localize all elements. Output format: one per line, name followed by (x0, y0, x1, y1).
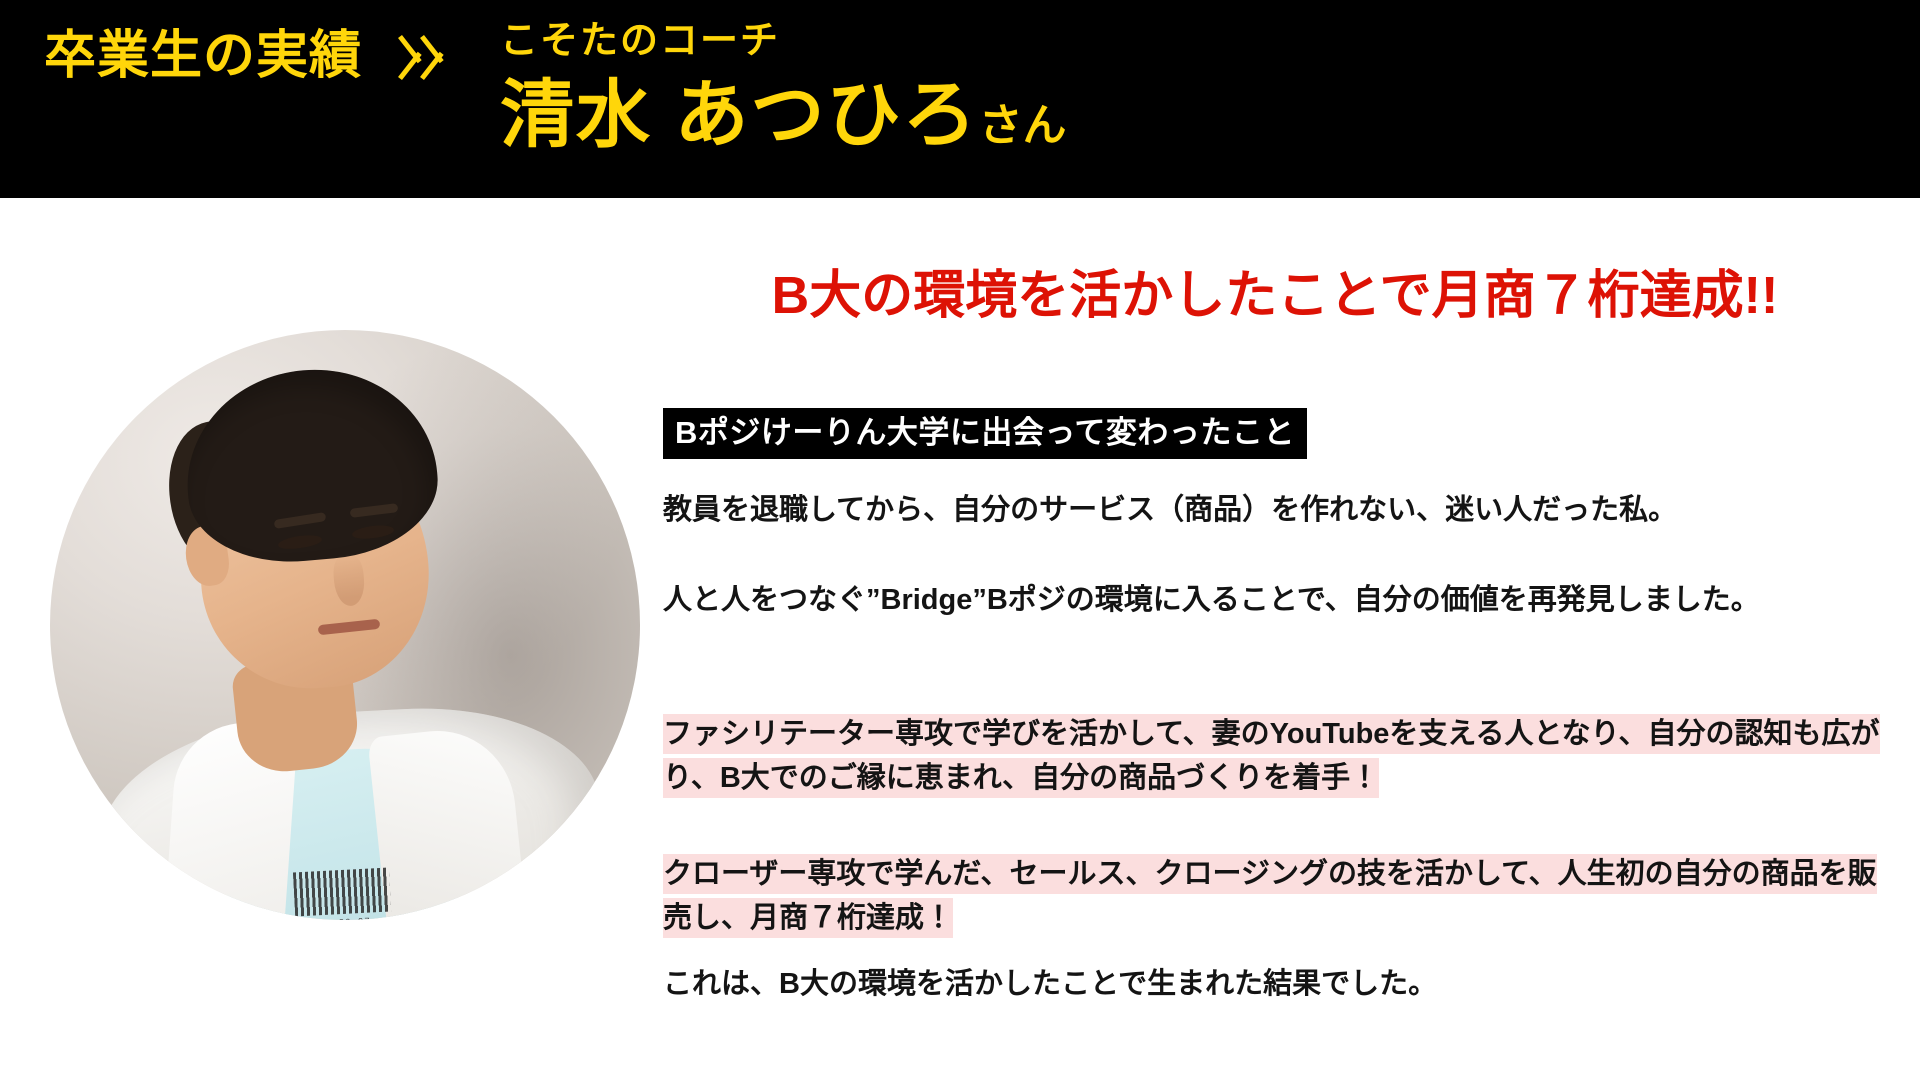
profile-photo-circle: 03 836 36 97 (50, 330, 640, 920)
profile-photo: 03 836 36 97 (50, 330, 640, 920)
paragraph-5-text: これは、B大の環境を活かしたことで生まれた結果でした。 (663, 968, 1437, 1000)
paragraph-5: これは、B大の環境を活かしたことで生まれた結果でした。 (663, 962, 1893, 1006)
paragraph-3: ファシリテーター専攻で学びを活かして、妻のYouTubeを支える人となり、自分の… (663, 712, 1893, 800)
section-heading-badge: Bポジけーりん大学に出会って変わったこと (663, 408, 1307, 459)
paragraph-4-text: クローザー専攻で学んだ、セールス、クロージングの技を活かして、人生初の自分の商品… (663, 854, 1877, 938)
paragraph-1: 教員を退職してから、自分のサービス（商品）を作れない、迷い人だった私。 (663, 488, 1893, 532)
paragraph-1-text: 教員を退職してから、自分のサービス（商品）を作れない、迷い人だった私。 (663, 494, 1677, 526)
paragraph-3-text: ファシリテーター専攻で学びを活かして、妻のYouTubeを支える人となり、自分の… (663, 714, 1880, 798)
paragraph-4: クローザー専攻で学んだ、セールス、クロージングの技を活かして、人生初の自分の商品… (663, 852, 1893, 940)
photo-tshirt-barcode-graphic (293, 868, 391, 917)
paragraph-2-text: 人と人をつなぐ”Bridge”Bポジの環境に入ることで、自分の価値を再発見しまし… (663, 584, 1760, 616)
page-headline: B大の環境を活かしたことで月商７桁達成!! (655, 268, 1895, 325)
content-column: B大の環境を活かしたことで月商７桁達成!! Bポジけーりん大学に出会って変わった… (655, 0, 1895, 1080)
header-eyebrow-label: 卒業生の実績 (44, 30, 362, 82)
double-chevron-right-icon (400, 16, 470, 102)
paragraph-2: 人と人をつなぐ”Bridge”Bポジの環境に入ることで、自分の価値を再発見しまし… (663, 578, 1893, 622)
